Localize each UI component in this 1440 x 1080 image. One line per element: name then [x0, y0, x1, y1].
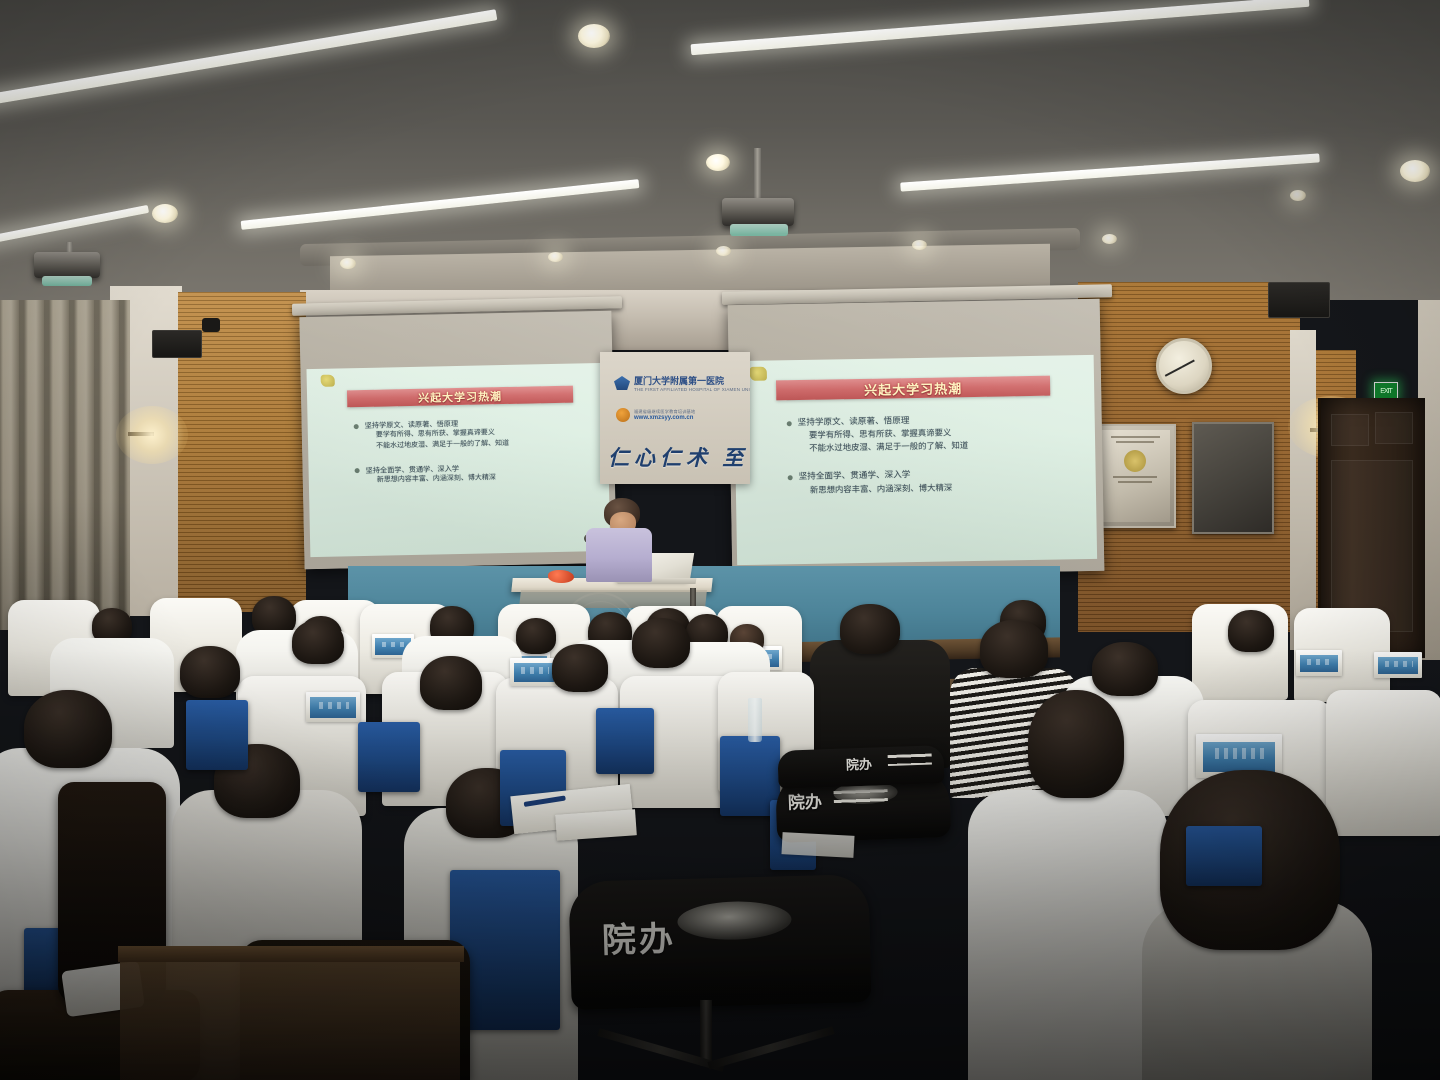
name-card-face	[1378, 657, 1418, 675]
banner-org-row: 厦门大学附属第一医院 THE FIRST AFFILIATED HOSPITAL…	[614, 374, 750, 392]
speaker-icon-right	[1268, 282, 1330, 318]
foreground-desk	[120, 952, 460, 1080]
chair-label: 院办	[787, 787, 822, 813]
attendee-head-front	[1028, 690, 1124, 798]
wall-certificate-plaque	[1094, 424, 1176, 528]
chair-center-post	[700, 1000, 712, 1066]
office-chair[interactable]: 院办	[777, 745, 944, 789]
wall-clock-icon	[1156, 338, 1212, 394]
clock-hour-hand	[1182, 360, 1195, 368]
lecture-hall-photo: EXIT 兴起大学习热潮 坚持学原文	[0, 0, 1440, 1080]
chair-stripe-decal	[834, 789, 888, 804]
chair-stripe-decal	[888, 754, 932, 767]
water-bottle-icon-5	[748, 698, 762, 742]
certificate-text-line	[1116, 441, 1155, 443]
attendee-body-front	[968, 790, 1168, 1080]
ceiling-downlight-10	[1290, 190, 1306, 201]
slide-right: 兴起大学习热潮 坚持学原文、读原著、悟原理 要学有所得、思有所获、掌握真谛要义 …	[734, 355, 1098, 565]
name-card-text	[380, 642, 405, 648]
attendee-head	[1092, 642, 1158, 696]
right-door-jamb	[1290, 330, 1316, 650]
certificate-text-line	[1118, 481, 1152, 483]
projector-mount-rod	[754, 148, 761, 202]
name-card-text	[519, 667, 548, 673]
attendee-head	[552, 644, 608, 692]
slide-bullets-right: 坚持学原文、读原著、悟原理 要学有所得、思有所获、掌握真谛要义 不能水过地皮湿、…	[785, 411, 1087, 505]
chair-label: 院办	[601, 911, 676, 962]
wall-sconce-left	[116, 406, 188, 464]
foreground-desk-edge	[118, 946, 464, 962]
chair-base-arm	[707, 1026, 834, 1070]
security-camera-icon	[202, 318, 220, 332]
presenter	[584, 498, 654, 584]
certificate-text-line	[1113, 476, 1156, 478]
name-card-text	[1383, 661, 1412, 667]
slide-bullets-left: 坚持学原文、读原著、悟原理 要学有所得、思有所获、掌握真谛要义 不能水过地皮湿、…	[352, 415, 600, 495]
training-base-logo-icon	[616, 408, 630, 422]
ceiling-downlight-6	[548, 252, 563, 262]
attendee-head	[1228, 610, 1274, 652]
chair-cover	[1326, 690, 1440, 836]
attendee-head	[840, 604, 900, 654]
seat-cushion	[596, 708, 654, 774]
ceiling-downlight-1	[578, 24, 610, 48]
projection-screen-right: 兴起大学习热潮 坚持学原文、读原著、悟原理 要学有所得、思有所获、掌握真谛要义 …	[728, 299, 1105, 577]
name-card-face	[310, 697, 355, 717]
name-card-face	[1300, 655, 1339, 673]
name-card-text	[317, 702, 350, 709]
ceiling-downlight-5	[340, 258, 356, 269]
slide-left: 兴起大学习热潮 坚持学原文、读原著、悟原理 要学有所得、思有所获、掌握真谛要义 …	[306, 363, 610, 557]
banner-calligraphy: 仁心仁术 至诚至善	[608, 442, 750, 472]
ceiling-downlight-7	[716, 246, 731, 256]
certificate-text-line	[1111, 436, 1160, 438]
door-panel-top	[1331, 414, 1369, 446]
slide-bullet-group: 坚持全面学、贯通学、深入学 新思想内容丰富、内涵深刻、博大精深	[353, 460, 599, 487]
slide-bullet-group: 坚持学原文、读原著、悟原理 要学有所得、思有所获、掌握真谛要义 不能水过地皮湿、…	[785, 411, 1086, 456]
certificate-face	[1100, 430, 1170, 522]
projector-lens-left	[42, 276, 92, 286]
ceiling-downlight-2	[152, 204, 178, 223]
seat-cushion	[1186, 826, 1262, 886]
attendee-head	[292, 620, 344, 664]
projection-screen-left: 兴起大学习热潮 坚持学原文、读原著、悟原理 要学有所得、思有所获、掌握真谛要义 …	[299, 311, 616, 569]
slide-title-bar-left: 兴起大学习热潮	[347, 386, 573, 408]
name-card-face	[514, 663, 554, 682]
speaker-icon-left	[152, 330, 202, 358]
seat-cushion	[186, 700, 248, 770]
name-card-text	[1305, 659, 1333, 665]
seat-name-card	[306, 692, 360, 722]
attendee-head	[980, 620, 1048, 678]
ceiling-downlight-8	[912, 240, 927, 250]
presenter-torso	[586, 528, 652, 582]
banner-suborg-url: www.xmzsyy.com.cn	[634, 415, 695, 421]
attendee-head-front	[24, 690, 112, 768]
slide-bullet-group: 坚持全面学、贯通学、深入学 新思想内容丰富、内涵深刻、博大精深	[786, 465, 1086, 497]
slide-title-text: 兴起大学习热潮	[418, 388, 502, 406]
table-flowers	[548, 570, 574, 583]
projector-icon-left	[34, 252, 100, 278]
seat-name-card	[1374, 652, 1422, 678]
notebook-paper-2	[555, 809, 637, 841]
slide-emblem-icon	[321, 375, 335, 387]
projector-icon	[722, 198, 794, 226]
hospital-banner: 厦门大学附属第一医院 THE FIRST AFFILIATED HOSPITAL…	[600, 352, 750, 484]
ceiling-downlight-9	[1102, 234, 1117, 244]
seat-name-card	[1296, 650, 1342, 676]
seat-cushion	[358, 722, 420, 792]
banner-suborg-row: 福建省级继续医学教育培训基地 www.xmzsyy.com.cn	[616, 408, 695, 422]
name-card-face	[1203, 742, 1275, 772]
attendee-head	[516, 618, 556, 654]
banner-org-name-sub: THE FIRST AFFILIATED HOSPITAL OF XIAMEN …	[634, 387, 750, 392]
door-panel-top-2	[1375, 412, 1413, 444]
projector-lens	[730, 224, 788, 236]
chair-headrest-pad	[677, 900, 792, 941]
attendee-head	[632, 618, 690, 668]
exit-sign-label: EXIT	[1380, 388, 1392, 395]
door-panel-body	[1331, 460, 1413, 632]
slide-emblem-icon	[750, 367, 767, 381]
slide-title-text: 兴起大学习热潮	[864, 378, 962, 399]
office-chair-front[interactable]: 院办	[568, 874, 871, 1010]
chair-label: 院办	[846, 754, 873, 774]
ceiling-downlight-3	[706, 154, 730, 171]
wall-metal-plaque	[1192, 422, 1274, 534]
name-card-text	[1213, 748, 1265, 758]
seat-name-card	[510, 658, 558, 686]
window-curtain	[0, 300, 130, 630]
attendee-head	[180, 646, 240, 698]
banner-org-name: 厦门大学附属第一医院	[634, 374, 750, 387]
certificate-seal-icon	[1124, 450, 1146, 472]
ceiling-downlight-4	[1400, 160, 1430, 182]
slide-title-bar-right: 兴起大学习热潮	[776, 376, 1050, 401]
clock-minute-hand	[1165, 366, 1183, 377]
hospital-logo-icon	[614, 376, 630, 390]
notebook-paper-3	[781, 832, 854, 858]
slide-bullet-group: 坚持学原文、读原著、悟原理 要学有所得、思有所获、掌握真谛要义 不能水过地皮湿、…	[352, 415, 599, 453]
attendee-head	[420, 656, 482, 710]
